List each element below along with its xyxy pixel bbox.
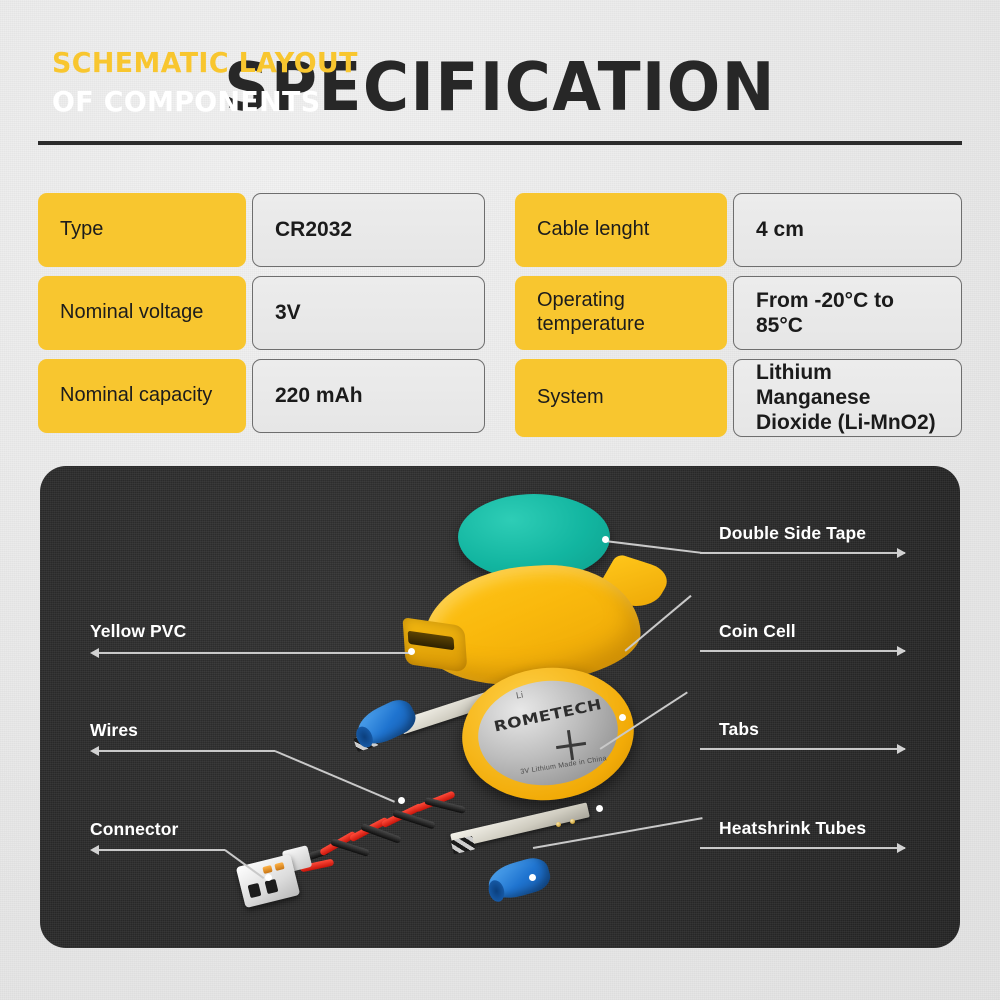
callout-label: Wires	[90, 720, 138, 741]
callout-label: Coin Cell	[719, 621, 796, 642]
callout-arrow-icon	[897, 843, 906, 853]
callout-leader-line	[99, 652, 411, 654]
callout-leader-line	[700, 847, 905, 849]
callout-endpoint-dot	[602, 536, 609, 543]
callout-leader-line	[700, 650, 905, 652]
coin-cell-mark: Li	[515, 689, 524, 700]
callout-arrow-icon	[90, 746, 99, 756]
tab-weld-dimple	[556, 822, 561, 827]
callout-endpoint-dot	[408, 648, 415, 655]
callout-leader-line	[700, 552, 905, 554]
callout-endpoint-dot	[596, 805, 603, 812]
callout-label: Double Side Tape	[719, 523, 866, 544]
callout-label: Connector	[90, 819, 178, 840]
callout-leader-line	[99, 849, 225, 851]
callout-arrow-icon	[897, 548, 906, 558]
callout-arrow-icon	[897, 646, 906, 656]
callout-endpoint-dot	[398, 797, 405, 804]
callout-label: Heatshrink Tubes	[719, 818, 866, 839]
callout-leader-line	[99, 750, 275, 752]
callout-label: Yellow PVC	[90, 621, 186, 642]
callout-leader-line	[700, 748, 905, 750]
tab-weld-dimple	[570, 819, 575, 824]
callout-arrow-icon	[90, 648, 99, 658]
callout-endpoint-dot	[619, 714, 626, 721]
callout-endpoint-dot	[265, 874, 272, 881]
coin-cell-polarity-icon	[554, 728, 588, 762]
callout-label: Tabs	[719, 719, 759, 740]
callout-endpoint-dot	[529, 874, 536, 881]
callout-arrow-icon	[897, 744, 906, 754]
callout-arrow-icon	[90, 845, 99, 855]
